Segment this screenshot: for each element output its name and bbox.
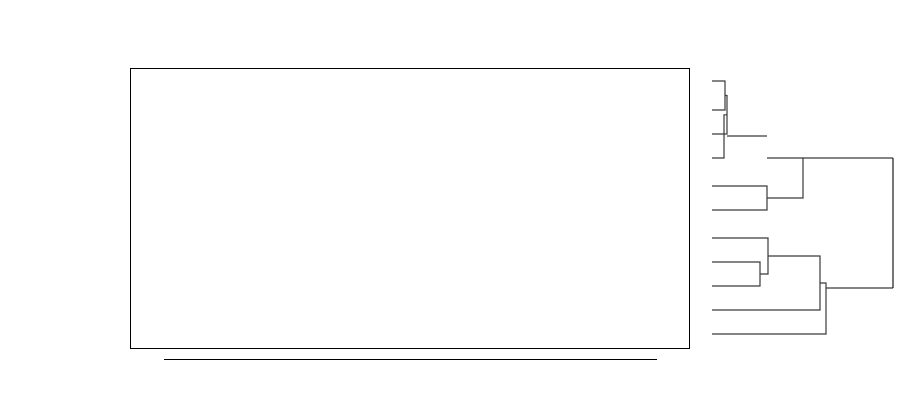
n-column <box>130 68 163 349</box>
stacked-bars <box>164 68 657 349</box>
h-column <box>658 68 690 349</box>
x-axis <box>130 349 690 379</box>
dendrogram-svg <box>690 60 900 360</box>
x-axis-line <box>164 359 657 360</box>
y-axis-labels <box>0 68 126 349</box>
legend <box>110 24 790 42</box>
dendrogram <box>690 60 900 360</box>
